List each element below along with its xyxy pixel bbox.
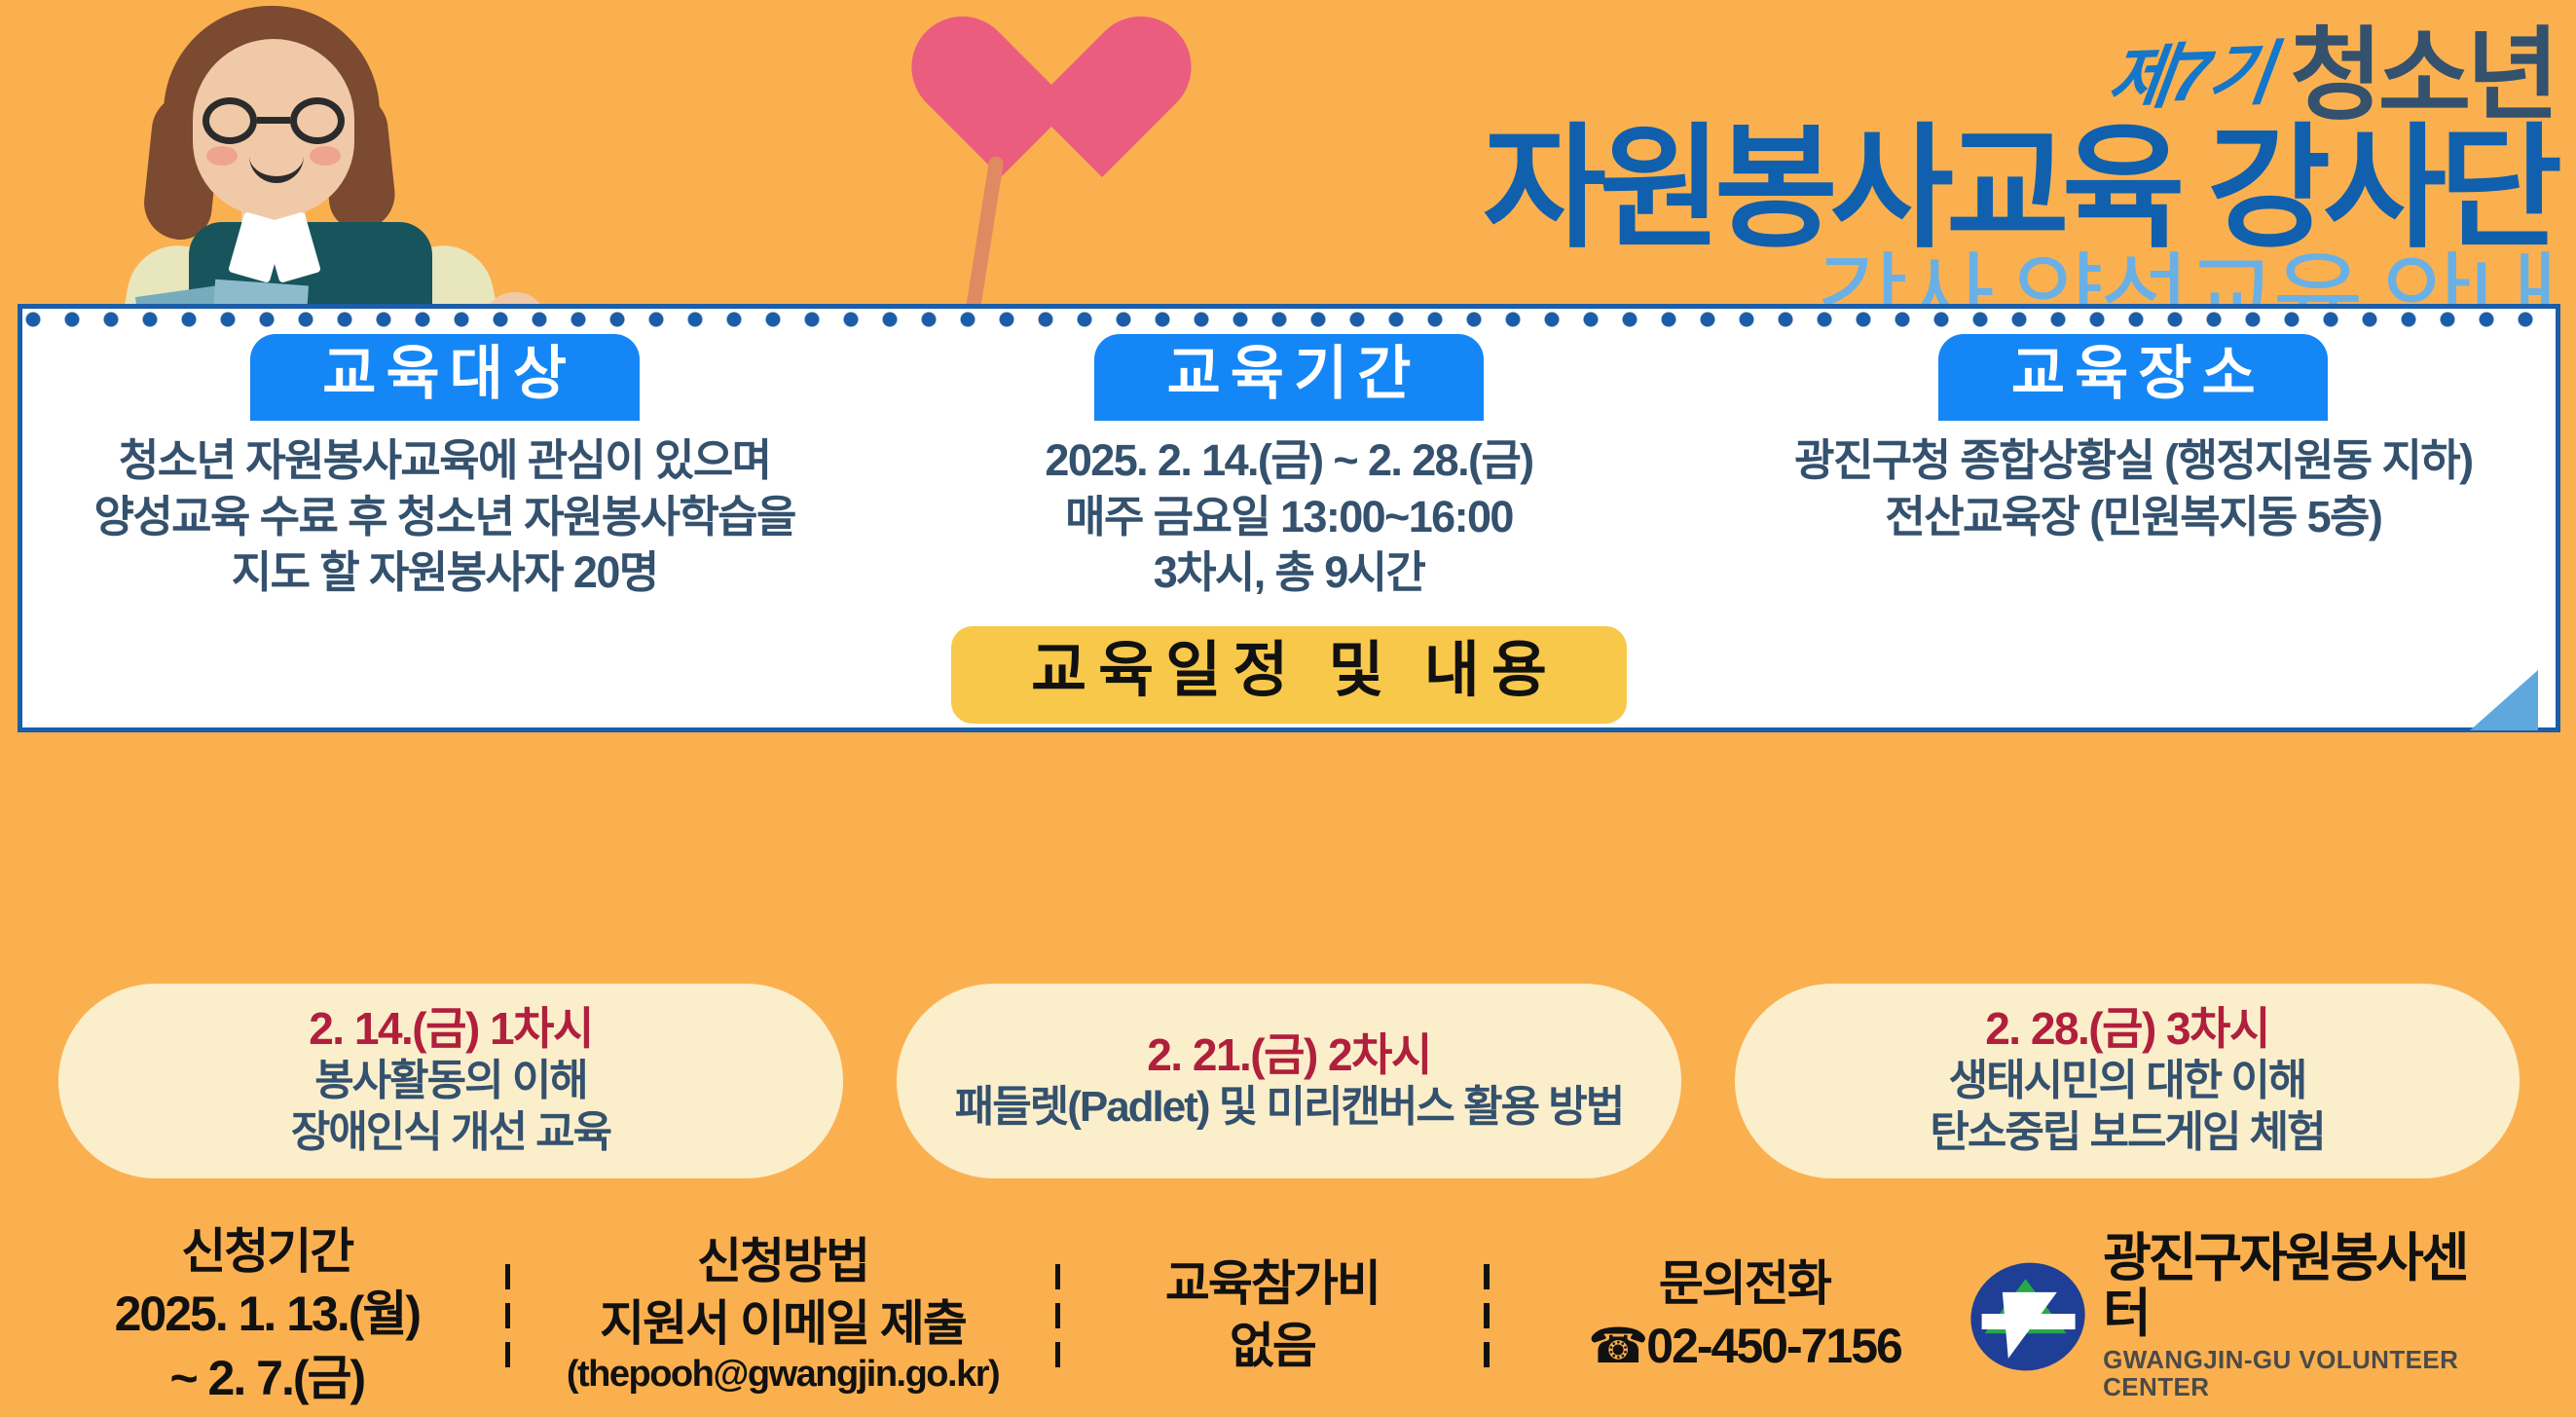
gwangjin-volunteer-center-logo-icon <box>1957 1248 2099 1385</box>
schedule-card: 2. 14.(금) 1차시 봉사활동의 이해 장애인식 개선 교육 <box>58 984 843 1178</box>
poster-header: 제7기 청소년 자원봉사교육 강사단 강사 양성교육 안내 <box>0 0 2576 310</box>
title-line-one: 제7기 청소년 <box>958 18 2555 127</box>
logo-name-korean: 광진구자원봉사센터 <box>2103 1231 2508 1341</box>
footer-divider <box>505 1264 510 1369</box>
footer-apply-method-email[interactable]: (thepooh@gwangjin.go.kr) <box>539 1353 1026 1398</box>
footer-apply-method-line-one: 지원서 이메일 제출 <box>539 1294 1026 1353</box>
youth-label: 청소년 <box>2290 25 2555 127</box>
organization-logo: 광진구자원봉사센터 GWANGJIN-GU VOLUNTEER CENTER <box>1970 1231 2518 1401</box>
info-card-inner: 교육대상 청소년 자원봉사교육에 관심이 있으며 양성교육 수료 후 청소년 자… <box>22 334 2556 727</box>
footer-contact: 문의전화 ☎02-450-7156 <box>1519 1257 1970 1375</box>
footer-apply-period-line-one: 2025. 1. 13.(월) <box>58 1285 476 1343</box>
schedule-card: 2. 28.(금) 3차시 생태시민의 대한 이해 탄소중립 보드게임 체험 <box>1735 984 2520 1178</box>
schedule-cards: 2. 14.(금) 1차시 봉사활동의 이해 장애인식 개선 교육 2. 21.… <box>18 984 2560 1198</box>
info-column-period: 교육기간 2025. 2. 14.(금) ~ 2. 28.(금) 매주 금요일 … <box>866 334 1711 601</box>
info-body-period: 2025. 2. 14.(금) ~ 2. 28.(금) 매주 금요일 13:00… <box>880 432 1697 601</box>
logo-text-block: 광진구자원봉사센터 GWANGJIN-GU VOLUNTEER CENTER <box>2103 1231 2508 1401</box>
info-body-target: 청소년 자원봉사교육에 관심이 있으며 양성교육 수료 후 청소년 자원봉사학습… <box>36 432 853 601</box>
info-column-venue: 교육장소 광진구청 종합상황실 (행정지원동 지하) 전산교육장 (민원복지동 … <box>1711 334 2556 601</box>
schedule-banner: 교육일정 및 내용 <box>951 626 1627 724</box>
info-card: 교육대상 청소년 자원봉사교육에 관심이 있으며 양성교육 수료 후 청소년 자… <box>18 304 2560 732</box>
poster-footer: 신청기간 2025. 1. 13.(월) ~ 2. 7.(금) 신청방법 지원서… <box>0 1215 2576 1417</box>
footer-divider <box>1484 1264 1489 1369</box>
footer-divider <box>1055 1264 1060 1369</box>
footer-contact-title: 문의전화 <box>1519 1257 1970 1311</box>
schedule-banner-wrap: 교육일정 및 내용 <box>22 626 2556 724</box>
info-pill-period: 교육기간 <box>1094 334 1484 421</box>
info-body-venue: 광진구청 종합상황실 (행정지원동 지하) 전산교육장 (민원복지동 5층) <box>1725 432 2542 544</box>
info-column-target: 교육대상 청소년 자원봉사교육에 관심이 있으며 양성교육 수료 후 청소년 자… <box>22 334 866 601</box>
cheek-right-icon <box>310 146 341 166</box>
page-title: 자원봉사교육 강사단 <box>958 119 2555 260</box>
footer-apply-period: 신청기간 2025. 1. 13.(월) ~ 2. 7.(금) <box>58 1225 476 1407</box>
info-pill-target: 교육대상 <box>250 334 640 421</box>
footer-contact-phone[interactable]: ☎02-450-7156 <box>1519 1317 1970 1375</box>
schedule-card: 2. 21.(금) 2차시 패들렛(Padlet) 및 미리캔버스 활용 방법 <box>897 984 1681 1178</box>
schedule-card-line-two: 장애인식 개선 교육 <box>291 1106 610 1159</box>
cheek-left-icon <box>206 146 238 166</box>
poster-root: 제7기 청소년 자원봉사교육 강사단 강사 양성교육 안내 교육대상 청소년 자… <box>0 0 2576 1417</box>
schedule-card-date: 2. 28.(금) 3차시 <box>1985 1003 2269 1055</box>
schedule-card-date: 2. 14.(금) 1차시 <box>309 1003 593 1055</box>
footer-fee-value: 없음 <box>1089 1317 1454 1375</box>
footer-apply-method-title: 신청방법 <box>539 1235 1026 1288</box>
teacher-illustration <box>88 0 594 310</box>
schedule-card-line-one: 봉사활동의 이해 <box>314 1055 587 1107</box>
footer-fee-title: 교육참가비 <box>1089 1257 1454 1311</box>
glasses-bridge-icon <box>257 117 290 124</box>
dotted-top-border <box>22 309 2556 330</box>
footer-apply-period-title: 신청기간 <box>58 1225 476 1279</box>
glasses-left-icon <box>202 97 257 144</box>
footer-fee: 교육참가비 없음 <box>1089 1257 1454 1375</box>
logo-name-english: GWANGJIN-GU VOLUNTEER CENTER <box>2103 1346 2508 1401</box>
corner-fold-decoration <box>2470 670 2538 730</box>
edition-label: 제7기 <box>2104 16 2279 124</box>
schedule-card-date: 2. 21.(금) 2차시 <box>1147 1029 1431 1081</box>
schedule-card-line-two: 탄소중립 보드게임 체험 <box>1930 1106 2324 1159</box>
info-pill-venue: 교육장소 <box>1938 334 2328 421</box>
logo-sail-icon <box>2003 1291 2057 1358</box>
glasses-right-icon <box>290 97 345 144</box>
info-columns: 교육대상 청소년 자원봉사교육에 관심이 있으며 양성교육 수료 후 청소년 자… <box>22 334 2556 601</box>
footer-apply-period-line-two: ~ 2. 7.(금) <box>58 1349 476 1407</box>
title-block: 제7기 청소년 자원봉사교육 강사단 강사 양성교육 안내 <box>958 18 2555 350</box>
schedule-card-line-one: 패들렛(Padlet) 및 미리캔버스 활용 방법 <box>955 1081 1624 1134</box>
schedule-card-line-one: 생태시민의 대한 이해 <box>1949 1055 2306 1107</box>
footer-apply-method: 신청방법 지원서 이메일 제출 (thepooh@gwangjin.go.kr) <box>539 1235 1026 1398</box>
